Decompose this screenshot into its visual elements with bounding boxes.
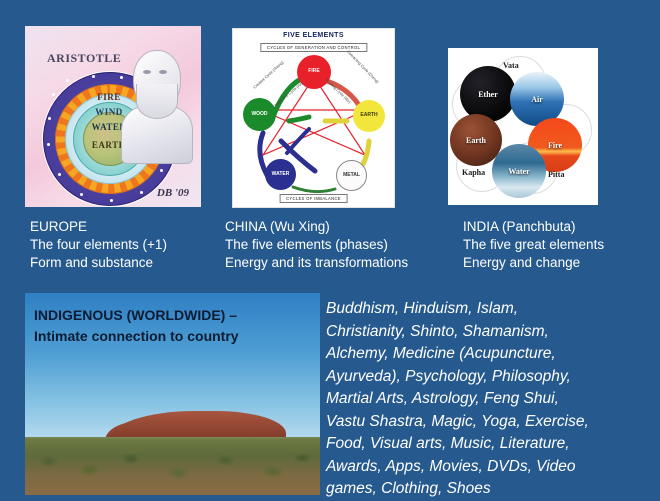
caption-india-line-3: Energy and change bbox=[463, 254, 604, 272]
dosha-kapha: Kapha bbox=[462, 168, 485, 177]
node-water: WATER bbox=[265, 159, 296, 190]
india-panchbuta-image: Ether Air Fire Water Earth Vata Pitta Ka… bbox=[448, 48, 598, 205]
caption-indigenous: INDIGENOUS (WORLDWIDE) – Intimate connec… bbox=[34, 305, 239, 347]
artist-signature: DB '09 bbox=[157, 187, 189, 199]
caption-europe: EUROPE The four elements (+1) Form and s… bbox=[30, 218, 167, 272]
slide-canvas: ARISTOTLE FIRE WIND WATER EARTH bbox=[0, 0, 660, 495]
caption-india: INDIA (Panchbuta) The five great element… bbox=[463, 218, 604, 272]
circle-water: Water bbox=[492, 144, 546, 198]
practice-list: Buddhism, Hinduism, Islam, Christianity,… bbox=[326, 298, 656, 501]
practice-list-line-6: Vastu Shastra, Magic, Yoga, Exercise, bbox=[326, 411, 656, 434]
node-wood: WOOD bbox=[243, 98, 276, 131]
practice-list-line-1: Buddhism, Hinduism, Islam, bbox=[326, 298, 656, 321]
caption-china-line-1: CHINA (Wu Xing) bbox=[225, 218, 408, 236]
practice-list-line-2: Christianity, Shinto, Shamanism, bbox=[326, 321, 656, 344]
caption-indigenous-line-1: INDIGENOUS (WORLDWIDE) – bbox=[34, 305, 239, 326]
practice-list-line-3: Alchemy, Medicine (Acupuncture, bbox=[326, 343, 656, 366]
china-wuxing-image: FIVE ELEMENTS CYCLES OF GENERATION AND C… bbox=[232, 28, 395, 208]
caption-india-line-1: INDIA (Panchbuta) bbox=[463, 218, 604, 236]
caption-indigenous-line-2: Intimate connection to country bbox=[34, 326, 239, 347]
cycles-imbalance-label: CYCLES OF IMBALANCE bbox=[279, 194, 348, 203]
indigenous-uluru-image: INDIGENOUS (WORLDWIDE) – Intimate connec… bbox=[25, 293, 320, 495]
practice-list-line-9: games, Clothing, Shoes bbox=[326, 478, 656, 501]
practice-list-line-7: Food, Visual arts, Music, Literature, bbox=[326, 433, 656, 456]
caption-china-line-2: The five elements (phases) bbox=[225, 236, 408, 254]
practice-list-line-5: Martial Arts, Astrology, Feng Shui, bbox=[326, 388, 656, 411]
node-earth: EARTH bbox=[353, 100, 385, 132]
cycles-generation-control-label: CYCLES OF GENERATION AND CONTROL bbox=[260, 43, 367, 52]
practice-list-line-8: Awards, Apps, Movies, DVDs, Video bbox=[326, 456, 656, 479]
dosha-vata: Vata bbox=[503, 61, 519, 70]
caption-india-line-2: The five great elements bbox=[463, 236, 604, 254]
five-elements-title: FIVE ELEMENTS bbox=[233, 32, 394, 39]
dosha-pitta: Pitta bbox=[548, 170, 564, 179]
aristotle-bust-illustration bbox=[117, 44, 193, 162]
caption-europe-line-3: Form and substance bbox=[30, 254, 167, 272]
practice-list-line-4: Ayurveda), Psychology, Philosophy, bbox=[326, 366, 656, 389]
aristotle-title-text: ARISTOTLE bbox=[47, 51, 121, 66]
caption-china-line-3: Energy and its transformations bbox=[225, 254, 408, 272]
caption-europe-line-2: The four elements (+1) bbox=[30, 236, 167, 254]
caption-china: CHINA (Wu Xing) The five elements (phase… bbox=[225, 218, 408, 272]
circle-ether: Ether bbox=[460, 66, 516, 122]
caption-europe-line-1: EUROPE bbox=[30, 218, 167, 236]
scrubland-region bbox=[25, 439, 320, 495]
node-metal: METAL bbox=[336, 160, 367, 191]
circle-earth: Earth bbox=[450, 114, 502, 166]
europe-aristotle-image: ARISTOTLE FIRE WIND WATER EARTH bbox=[25, 26, 201, 207]
